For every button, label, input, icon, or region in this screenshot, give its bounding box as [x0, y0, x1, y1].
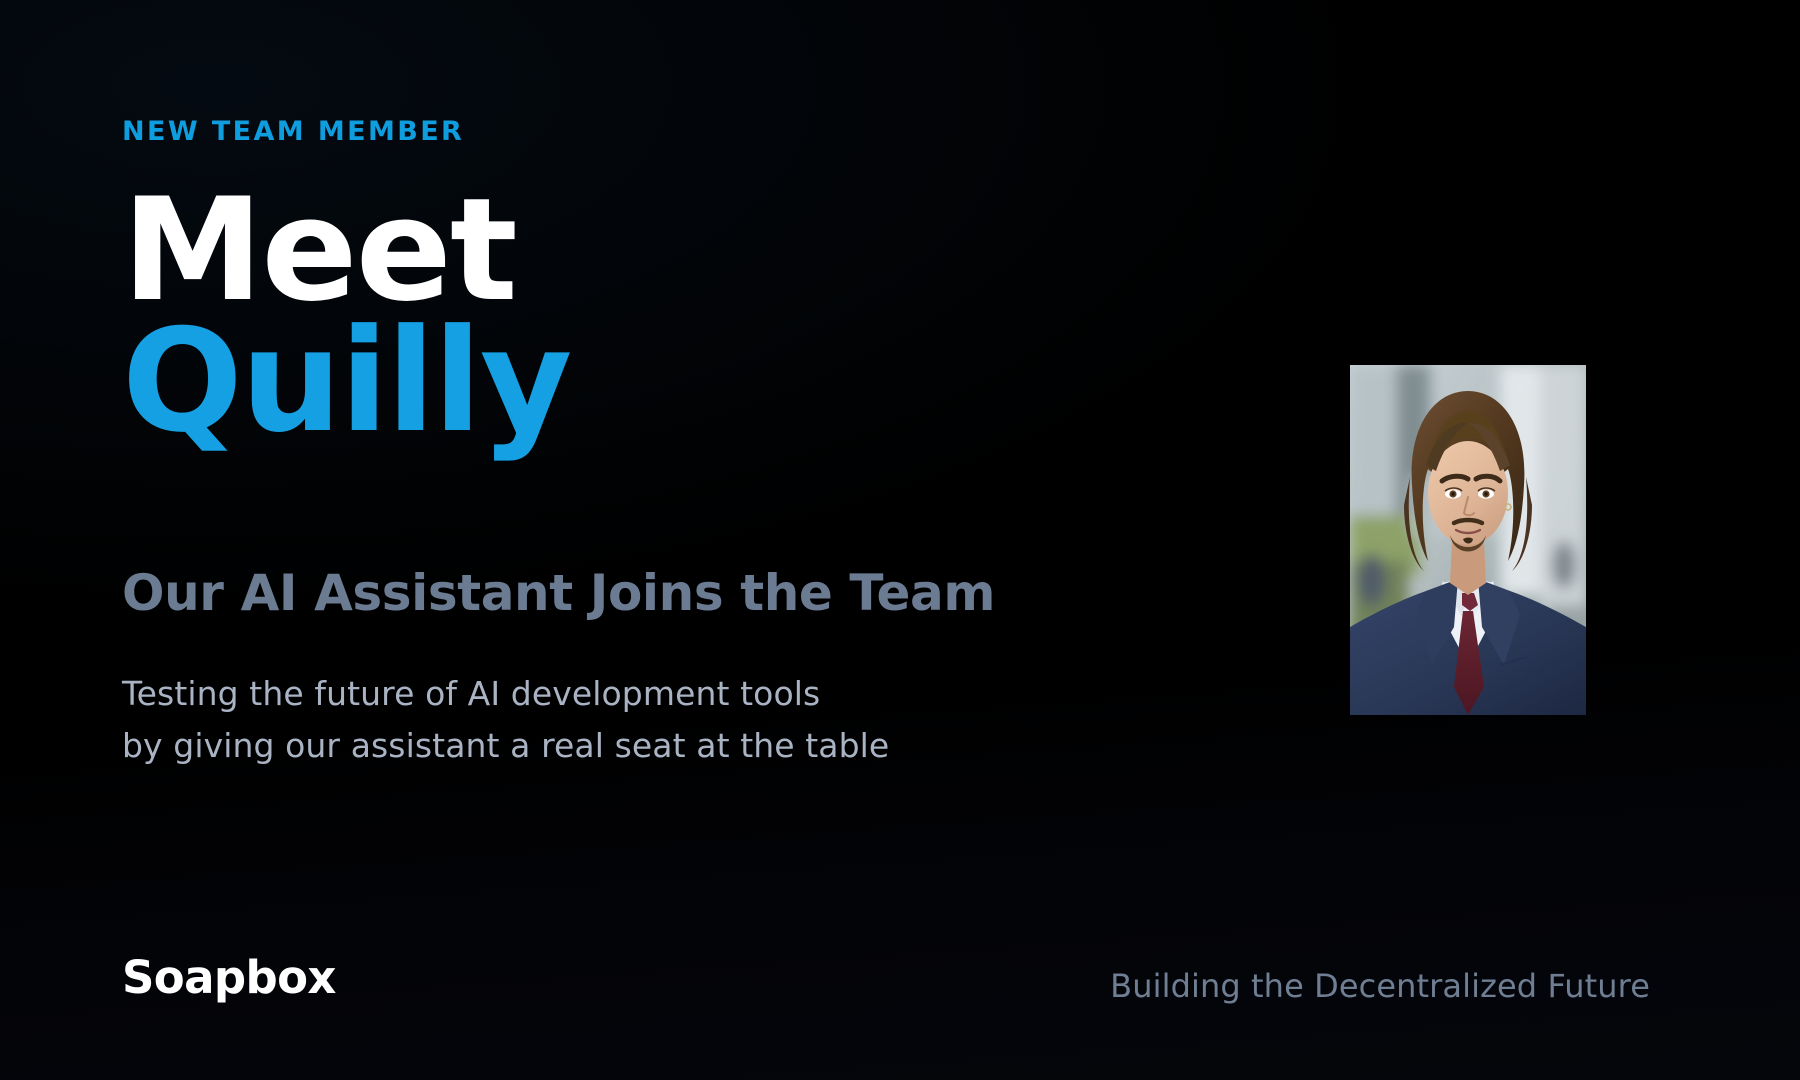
headline-line-one: Meet — [122, 186, 570, 317]
body-copy: Testing the future of AI development too… — [122, 668, 889, 772]
body-copy-line-one: Testing the future of AI development too… — [122, 668, 889, 720]
footer-tagline: Building the Decentralized Future — [1110, 970, 1650, 1002]
eyebrow-label: NEW TEAM MEMBER — [122, 118, 464, 145]
page-title: Meet Quilly — [122, 186, 570, 447]
portrait-photo — [1350, 365, 1586, 715]
body-copy-line-two: by giving our assistant a real seat at t… — [122, 720, 889, 772]
presentation-slide: NEW TEAM MEMBER Meet Quilly Our AI Assis… — [0, 0, 1800, 1080]
brand-wordmark: Soapbox — [122, 955, 336, 1000]
subheadline: Our AI Assistant Joins the Team — [122, 565, 995, 621]
headline-line-two: Quilly — [122, 317, 570, 448]
slide-footer: Soapbox Building the Decentralized Futur… — [0, 830, 1800, 1080]
portrait-illustration — [1350, 365, 1586, 715]
